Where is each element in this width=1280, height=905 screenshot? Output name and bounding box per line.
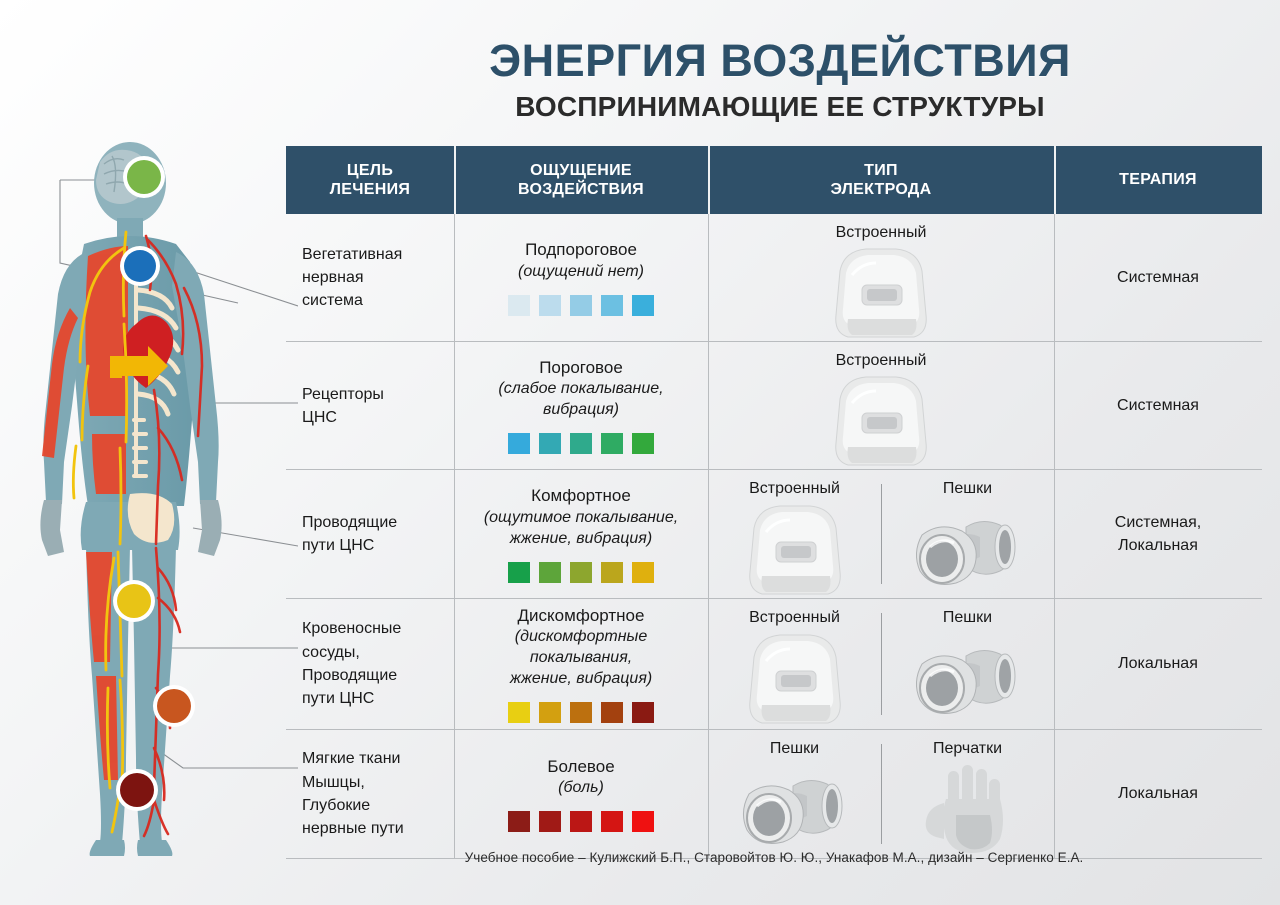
glove-electrode-icon [920,763,1016,855]
intensity-swatch-5 [632,702,654,723]
intensity-swatch-2 [539,562,561,583]
cell-electrode-type: Пешки Перчатки [708,730,1054,858]
intensity-swatch-3 [570,811,592,832]
sensation-detail: (ощущений нет) [518,261,644,282]
therapy-line: Системная [1117,394,1199,417]
intensity-swatch-1 [508,433,530,454]
intensity-swatch-4 [601,811,623,832]
electrode-option: Перчатки [881,730,1054,858]
column-header-goal: ЦЕЛЬ ЛЕЧЕНИЯ [286,146,454,214]
goal-line: Кровеносные [302,617,446,640]
electrode-illustration [881,502,1054,598]
electrode-illustration [708,245,1054,341]
cell-therapy: Локальная [1054,599,1262,729]
intensity-swatch-2 [539,702,561,723]
intensity-swatch-2 [539,433,561,454]
therapy-line: Системная [1117,266,1199,289]
cell-therapy: Системная [1054,342,1262,469]
sensation-title: Пороговое [539,357,623,378]
marker-neck [120,246,160,286]
page-subtitle: ВОСПРИНИМАЮЩИЕ ЕЕ СТРУКТУРЫ [280,91,1280,123]
goal-line: сосуды, [302,641,446,664]
anatomy-figure [8,128,298,858]
electrode-label: Встроенный [836,351,927,370]
sensation-detail-line: жжение, вибрация) [510,669,652,689]
electrode-illustration [708,373,1054,469]
sensation-detail-line: (ощущений нет) [518,262,644,282]
electrode-option: Встроенный [708,342,1054,469]
electrode-label: Встроенный [749,479,840,498]
goal-line: нервные пути [302,817,446,840]
cell-therapy: Локальная [1054,730,1262,858]
cell-treatment-goal: Проводящиепути ЦНС [286,470,454,597]
marker-calf [116,769,158,811]
intensity-swatch-5 [632,433,654,454]
cell-treatment-goal: Кровеносныесосуды,Проводящиепути ЦНС [286,599,454,729]
sensation-detail-line: (ощутимое покалывание, [484,508,678,528]
goal-line: Мягкие ткани [302,747,446,770]
table-header-row: ЦЕЛЬ ЛЕЧЕНИЯ ОЩУЩЕНИЕ ВОЗДЕЙСТВИЯ ТИП ЭЛ… [286,146,1262,214]
goal-line: пути ЦНС [302,687,446,710]
marker-thigh [113,580,155,622]
sensation-detail-line: (слабое покалывание, [498,379,663,399]
electrode-label: Пешки [943,479,992,498]
therapy-line: Локальная [1118,534,1198,557]
intensity-swatches [508,702,654,723]
intensity-swatch-3 [570,562,592,583]
cell-sensation: Подпороговое(ощущений нет) [454,214,708,341]
page-title: ЭНЕРГИЯ ВОЗДЕЙСТВИЯ [280,38,1280,84]
intensity-swatch-3 [570,433,592,454]
header-goal-line2: ЛЕЧЕНИЯ [330,180,410,199]
electrode-label: Пешки [943,608,992,627]
cell-sensation: Пороговое(слабое покалывание,вибрация) [454,342,708,469]
credits: Учебное пособие – Кулижский Б.П., Старов… [286,850,1262,865]
peshki-electrode-icon [735,766,855,852]
intensity-swatches [508,433,654,454]
electrode-option: Встроенный [708,599,881,729]
header-sensation-line1: ОЩУЩЕНИЕ [518,161,644,180]
intensity-swatch-3 [570,295,592,316]
built-in-electrode-icon [818,245,944,341]
intensity-swatch-2 [539,295,561,316]
energy-table: ЦЕЛЬ ЛЕЧЕНИЯ ОЩУЩЕНИЕ ВОЗДЕЙСТВИЯ ТИП ЭЛ… [286,146,1262,859]
electrode-illustration [881,630,1054,729]
electrode-label: Встроенный [836,223,927,242]
column-header-sensation: ОЩУЩЕНИЕ ВОЗДЕЙСТВИЯ [454,146,708,214]
intensity-swatch-1 [508,562,530,583]
header-electrode-line2: ЭЛЕКТРОДА [831,180,932,199]
electrode-option: Пешки [708,730,881,858]
sensation-detail: (дискомфортныепокалывания,жжение, вибрац… [510,626,652,689]
sensation-detail: (слабое покалывание,вибрация) [498,378,663,420]
goal-line: Вегетативная [302,243,446,266]
header-sensation-line2: ВОЗДЕЙСТВИЯ [518,180,644,199]
sensation-title: Болевое [547,756,614,777]
intensity-swatch-4 [601,433,623,454]
goal-line: Рецепторы [302,383,446,406]
cell-therapy: Системная,Локальная [1054,470,1262,597]
sensation-detail-line: (дискомфортные [510,627,652,647]
intensity-swatch-5 [632,562,654,583]
intensity-swatch-4 [601,295,623,316]
table-body: ВегетативнаянервнаясистемаПодпороговое(о… [286,214,1262,859]
electrode-option: Пешки [881,470,1054,597]
table-row: Мягкие тканиМышцы,Глубокиенервные путиБо… [286,730,1262,859]
sensation-detail-line: (боль) [558,778,604,798]
intensity-swatch-1 [508,702,530,723]
electrode-illustration [708,502,881,598]
goal-line: пути ЦНС [302,534,446,557]
peshki-electrode-icon [908,507,1028,593]
intensity-swatches [508,562,654,583]
cell-treatment-goal: РецепторыЦНС [286,342,454,469]
goal-line: Глубокие [302,794,446,817]
cell-electrode-type: Встроенный [708,214,1054,341]
intensity-swatch-1 [508,295,530,316]
goal-line: нервная [302,266,446,289]
infographic-page: ЭНЕРГИЯ ВОЗДЕЙСТВИЯ ВОСПРИНИМАЮЩИЕ ЕЕ СТ… [0,0,1280,905]
cell-treatment-goal: Мягкие тканиМышцы,Глубокиенервные пути [286,730,454,858]
electrode-label: Встроенный [749,608,840,627]
electrode-illustration [881,761,1054,858]
marker-head [123,156,165,198]
table-row: Проводящиепути ЦНСКомфортное(ощутимое по… [286,470,1262,598]
electrode-option: Пешки [881,599,1054,729]
intensity-swatch-1 [508,811,530,832]
electrode-illustration [708,761,881,858]
sensation-detail: (ощутимое покалывание,жжение, вибрация) [484,507,678,549]
cell-therapy: Системная [1054,214,1262,341]
table-row: Кровеносныесосуды,Проводящиепути ЦНСДиск… [286,599,1262,730]
sensation-title: Подпороговое [525,239,637,260]
electrode-option: Встроенный [708,214,1054,341]
cell-sensation: Болевое(боль) [454,730,708,858]
intensity-swatch-3 [570,702,592,723]
table-row: РецепторыЦНСПороговое(слабое покалывание… [286,342,1262,470]
therapy-line: Локальная [1118,652,1198,675]
built-in-electrode-icon [818,373,944,469]
cell-electrode-type: Встроенный Пешки [708,599,1054,729]
marker-knee [153,685,195,727]
sensation-detail-line: вибрация) [498,400,663,420]
peshki-electrode-icon [908,636,1028,722]
built-in-electrode-icon [732,502,858,598]
column-header-electrode: ТИП ЭЛЕКТРОДА [708,146,1054,214]
intensity-swatch-5 [632,295,654,316]
sensation-detail-line: покалывания, [510,648,652,668]
sensation-title: Комфортное [531,485,631,506]
header-therapy-line1: ТЕРАПИЯ [1119,170,1197,189]
title-block: ЭНЕРГИЯ ВОЗДЕЙСТВИЯ ВОСПРИНИМАЮЩИЕ ЕЕ СТ… [280,38,1280,123]
cell-electrode-type: Встроенный [708,342,1054,469]
intensity-swatch-4 [601,562,623,583]
electrode-illustration [708,630,881,729]
intensity-swatch-4 [601,702,623,723]
sensation-detail-line: жжение, вибрация) [484,529,678,549]
goal-line: система [302,289,446,312]
therapy-line: Системная, [1115,511,1201,534]
goal-line: Проводящие [302,664,446,687]
sensation-title: Дискомфортное [518,605,645,626]
goal-line: Мышцы, [302,771,446,794]
goal-line: ЦНС [302,406,446,429]
goal-line: Проводящие [302,511,446,534]
intensity-swatches [508,295,654,316]
table-row: ВегетативнаянервнаясистемаПодпороговое(о… [286,214,1262,342]
cell-treatment-goal: Вегетативнаянервнаясистема [286,214,454,341]
intensity-swatches [508,811,654,832]
cell-electrode-type: Встроенный Пешки [708,470,1054,597]
electrode-option: Встроенный [708,470,881,597]
electrode-label: Перчатки [933,739,1002,758]
cell-sensation: Комфортное(ощутимое покалывание,жжение, … [454,470,708,597]
intensity-swatch-5 [632,811,654,832]
intensity-swatch-2 [539,811,561,832]
header-electrode-line1: ТИП [831,161,932,180]
therapy-line: Локальная [1118,782,1198,805]
sensation-detail: (боль) [558,777,604,798]
electrode-label: Пешки [770,739,819,758]
column-header-therapy: ТЕРАПИЯ [1054,146,1262,214]
built-in-electrode-icon [732,631,858,727]
header-goal-line1: ЦЕЛЬ [330,161,410,180]
cell-sensation: Дискомфортное(дискомфортныепокалывания,ж… [454,599,708,729]
